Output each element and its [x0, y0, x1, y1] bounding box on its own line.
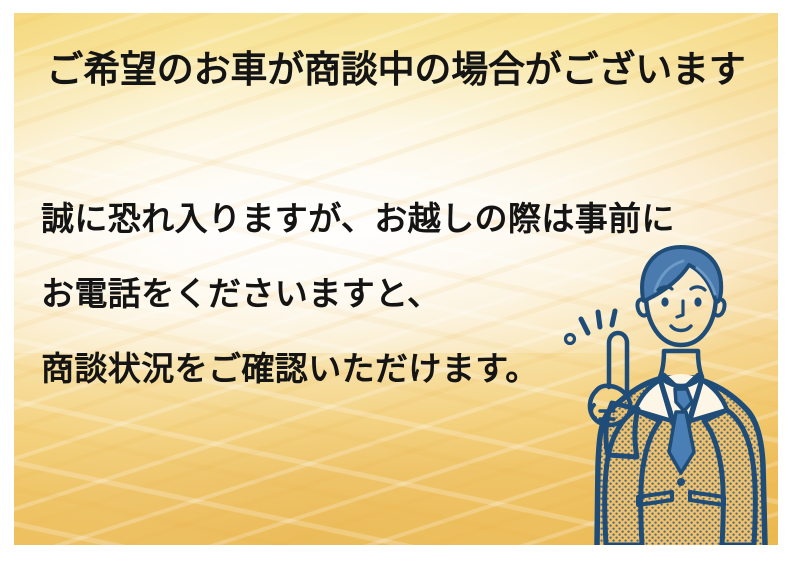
page-title: ご希望のお車が商談中の場合がございます — [14, 51, 778, 88]
announcement-banner: ご希望のお車が商談中の場合がございます 誠に恐れ入りますが、お越しの際は事前に … — [0, 0, 800, 565]
body-line-2: お電話をくださいますと、 — [41, 256, 741, 331]
body-line-3: 商談状況をご確認いただけます。 — [41, 331, 741, 406]
body-line-1: 誠に恐れ入りますが、お越しの際は事前に — [41, 181, 741, 256]
banner-panel: ご希望のお車が商談中の場合がございます 誠に恐れ入りますが、お越しの際は事前に … — [14, 13, 778, 545]
body-text: 誠に恐れ入りますが、お越しの際は事前に お電話をくださいますと、 商談状況をご確… — [41, 181, 741, 406]
